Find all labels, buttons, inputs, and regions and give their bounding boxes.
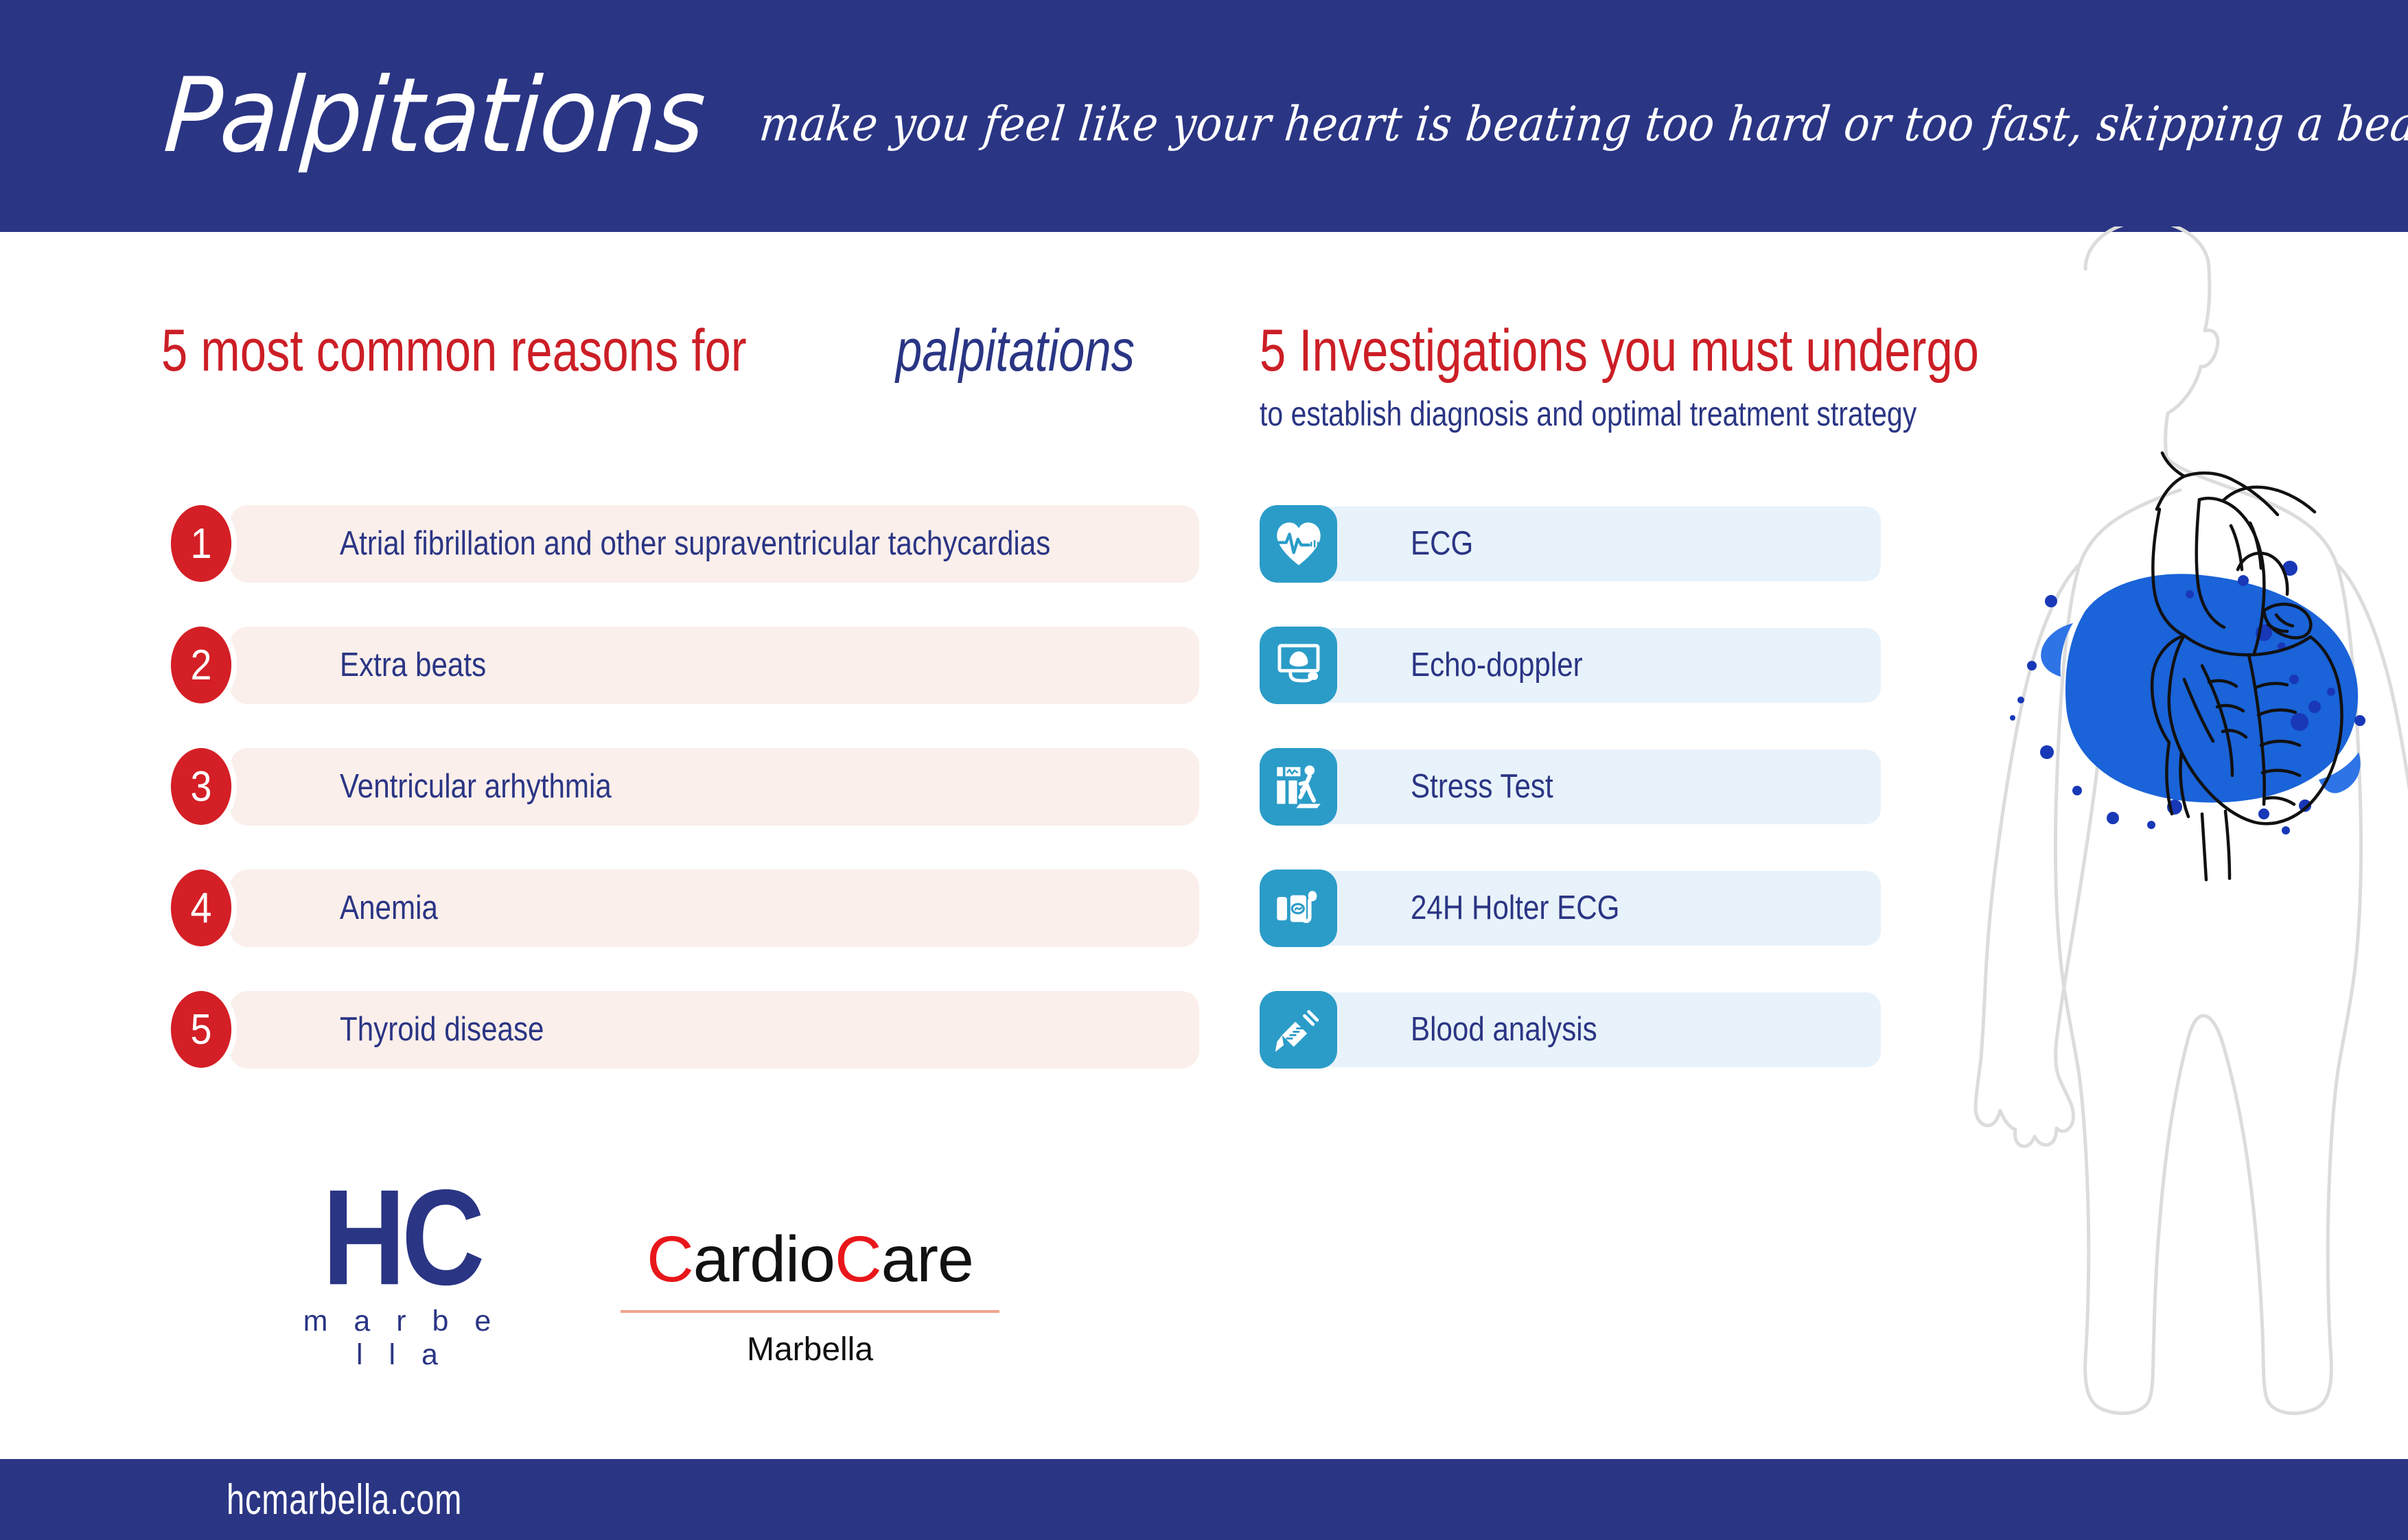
left-heading-red: 5 most common reasons for [161,321,747,380]
reasons-list: Atrial fibrillation and other supraventr… [161,505,1198,1112]
cardiocare-divider [621,1310,999,1313]
cardiocare-logo: CardioCare Marbella [618,1175,1002,1368]
page-footer: hcmarbella.com [0,1459,2408,1540]
list-item[interactable]: Ventricular arhythmia 3 [161,748,1198,826]
list-item[interactable]: Stress Test [1260,748,1919,826]
cardiocare-are: are [881,1223,973,1296]
cardiocare-c2: C [835,1223,881,1296]
syringe-icon [1260,991,1337,1069]
list-item[interactable]: 24H Holter ECG [1260,870,1919,947]
reason-bar: Anemia [230,870,1199,947]
investigation-label: ECG [1411,527,1473,561]
investigation-label: 24H Holter ECG [1411,891,1619,925]
reason-bar: Extra beats [230,627,1199,704]
investigation-bar: Echo-doppler [1297,628,1881,703]
right-column-heading: 5 Investigations you must undergo to est… [1260,321,1843,431]
cardiocare-wordmark: CardioCare [618,1227,1002,1292]
list-item[interactable]: Atrial fibrillation and other supraventr… [161,505,1198,583]
investigation-label: Blood analysis [1411,1013,1597,1047]
right-heading-red: 5 Investigations you must undergo [1260,321,1979,380]
number-badge: 2 [165,620,237,710]
left-heading-emphasis: palpitations [896,321,1135,380]
investigation-label: Stress Test [1411,770,1553,804]
reason-label: Atrial fibrillation and other supraventr… [340,527,1050,561]
page-title: Palpitations [161,65,707,167]
number-badge: 3 [165,742,237,831]
investigations-list: ECG Echo-doppler [1260,505,1919,1112]
cardiocare-sub: Marbella [618,1331,1002,1368]
hc-logo-sub: m a r b e l l a [288,1305,515,1372]
right-heading-line: 5 Investigations you must undergo [1260,321,1843,380]
hc-logo-mark: HC [288,1175,515,1300]
list-item[interactable]: Anemia 4 [161,870,1198,947]
number-badge: 5 [165,985,237,1074]
website-url[interactable]: hcmarbella.com [227,1475,462,1524]
investigation-bar: ECG [1297,506,1881,581]
investigation-bar: Stress Test [1297,749,1881,824]
logo-group: HC m a r b e l l a CardioCare Marbella [288,1175,1002,1372]
reason-bar: Thyroid disease [230,991,1199,1069]
list-item[interactable]: Echo-doppler [1260,627,1919,704]
cardiocare-ardio: ardio [693,1223,835,1296]
reason-bar: Atrial fibrillation and other supraventr… [230,505,1199,583]
investigation-label: Echo-doppler [1411,649,1583,682]
ultrasound-monitor-icon [1260,627,1337,704]
header-inner: Palpitations make you feel like your hea… [165,0,2306,232]
list-item[interactable]: Blood analysis [1260,991,1919,1069]
investigation-bar: Blood analysis [1297,992,1881,1067]
cardiocare-c1: C [647,1223,693,1296]
list-item[interactable]: Extra beats 2 [161,627,1198,704]
treadmill-stress-test-icon [1260,748,1337,826]
investigation-bar: 24H Holter ECG [1297,871,1881,946]
reason-label: Anemia [340,891,438,925]
number-badge: 4 [165,863,237,953]
left-column-heading: 5 most common reasons for palpitations [161,321,1198,380]
list-item[interactable]: Thyroid disease 5 [161,991,1198,1069]
list-item[interactable]: ECG [1260,505,1919,583]
reason-bar: Ventricular arhythmia [230,748,1199,826]
page-subtitle: make you feel like your heart is beating… [758,100,2408,148]
holter-monitor-icon [1260,870,1337,947]
human-body-illustration [1879,226,2408,1462]
reason-label: Thyroid disease [340,1013,544,1047]
left-heading-line: 5 most common reasons for palpitations [161,321,1198,380]
reason-label: Ventricular arhythmia [340,770,612,804]
right-heading-sub: to establish diagnosis and optimal treat… [1260,397,1738,431]
reason-label: Extra beats [340,649,486,682]
page-header: Palpitations make you feel like your hea… [0,0,2408,232]
heart-pulse-icon [1260,505,1337,583]
hc-marbella-logo: HC m a r b e l l a [288,1175,515,1372]
number-badge: 1 [165,499,237,588]
